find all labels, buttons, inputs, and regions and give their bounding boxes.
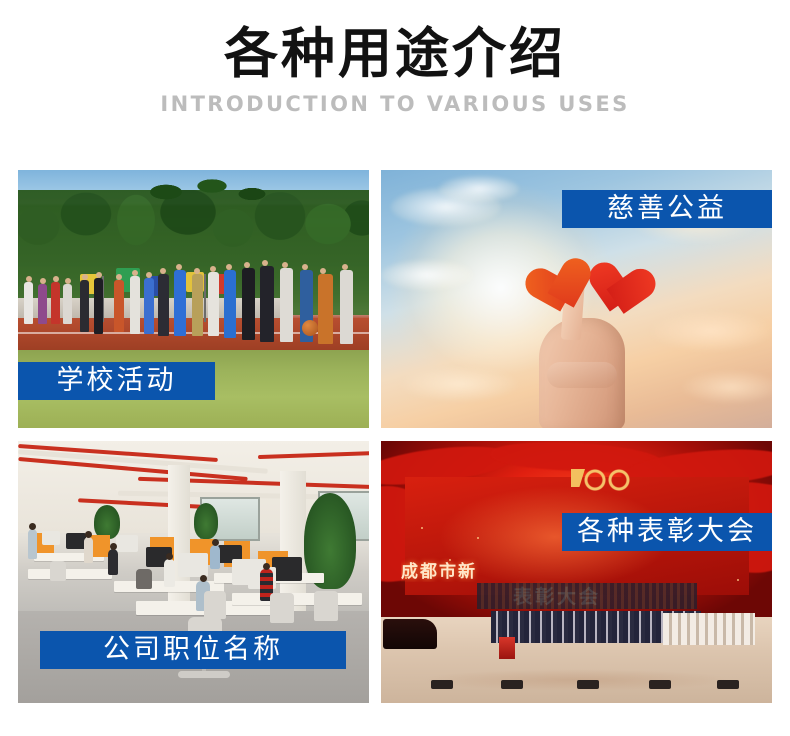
desk [28, 569, 112, 579]
chair-base [178, 671, 230, 678]
potted-plant [94, 505, 120, 539]
gallery-tile-charity[interactable]: 慈善公益 [381, 170, 772, 428]
gallery-tile-school[interactable]: 学校活动 [18, 170, 369, 428]
monitor [272, 557, 302, 581]
office-worker [164, 559, 175, 587]
office-worker [84, 537, 93, 563]
office-worker [210, 545, 220, 569]
party-emblem-icon [571, 467, 633, 493]
office-chair [270, 593, 294, 623]
performers-in-white-dresses [663, 613, 755, 645]
monitor [42, 531, 60, 545]
potted-plant [194, 503, 218, 539]
cloud [681, 370, 772, 404]
monitor [66, 533, 86, 549]
stage-monitor-speaker [577, 680, 599, 689]
stage-monitor-speaker [649, 680, 671, 689]
heart-icon [595, 264, 658, 327]
gallery-tile-label-ceremony: 各种表彰大会 [562, 513, 772, 551]
gallery-tile-label-charity: 慈善公益 [562, 190, 772, 228]
desk [232, 593, 362, 605]
stage-monitor-speaker [431, 680, 453, 689]
page-subtitle: INTRODUCTION TO VARIOUS USES [0, 92, 790, 116]
award-ceremony-photo: 成都市新 表彰大会 [381, 441, 772, 703]
knuckles [547, 362, 617, 388]
gallery-tile-ceremony[interactable]: 成都市新 表彰大会 各种表彰大会 [381, 441, 772, 703]
monitor [178, 553, 208, 577]
choir-rows [477, 583, 697, 609]
gallery-tile-office[interactable]: 公司职位名称 [18, 441, 369, 703]
cloud [439, 176, 519, 202]
office-chair [204, 591, 226, 619]
grand-piano [383, 619, 437, 649]
office-worker [108, 549, 118, 575]
stage-monitor-speaker [717, 680, 739, 689]
page-header: 各种用途介绍 INTRODUCTION TO VARIOUS USES [0, 0, 790, 116]
gallery-tile-label-office: 公司职位名称 [40, 631, 346, 669]
image-gallery-grid: 学校活动 慈善公益 [18, 170, 772, 703]
page-title: 各种用途介绍 [0, 24, 790, 84]
gallery-tile-label-school: 学校活动 [18, 362, 215, 400]
cloud [649, 310, 772, 352]
office-worker [28, 529, 37, 559]
monitor [116, 535, 138, 552]
hand [539, 318, 625, 428]
podium [499, 637, 515, 659]
office-chair [314, 591, 338, 621]
stage-monitor-speaker [501, 680, 523, 689]
stage-screen-headline: 成都市新 [401, 557, 701, 582]
cloud [381, 260, 473, 290]
office-chair [50, 561, 66, 581]
cloud [399, 366, 519, 402]
office-chair [136, 569, 152, 589]
